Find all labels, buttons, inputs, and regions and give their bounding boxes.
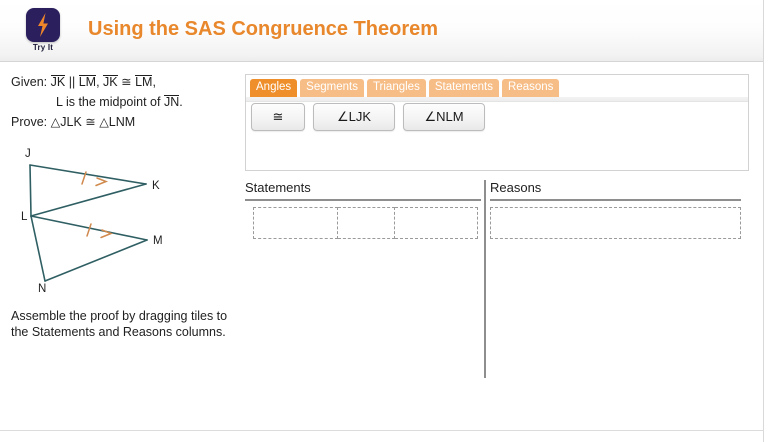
- given-label: Given:: [11, 75, 47, 89]
- prove-label: Prove:: [11, 115, 47, 129]
- two-triangles-figure: J K L M N: [0, 138, 230, 298]
- statement-drop-slot-3[interactable]: [395, 207, 478, 239]
- tab-strip-underline: [246, 97, 748, 102]
- lightning-bolt-icon: [26, 8, 60, 42]
- segment-jk-1: JK: [51, 75, 66, 89]
- segment-jk-2: JK: [103, 75, 118, 89]
- column-divider: [484, 180, 486, 378]
- statements-header-rule: [245, 199, 481, 201]
- given-prove-block: Given: JK || LM, JK ≅ LM, L is the midpo…: [11, 72, 183, 132]
- midpoint-text: L is the midpoint of: [56, 95, 164, 109]
- tab-statements[interactable]: Statements: [429, 79, 499, 97]
- brand-logo-caption: Try It: [25, 43, 61, 52]
- tile-panel: Angles Segments Triangles Statements Rea…: [245, 74, 749, 171]
- vertex-label-l: L: [21, 211, 28, 223]
- vertex-label-m: M: [153, 235, 163, 247]
- vertex-label-n: N: [38, 283, 46, 295]
- reasons-drop-row: [490, 207, 741, 239]
- tile-category-tabs: Angles Segments Triangles Statements Rea…: [250, 79, 559, 97]
- statement-drop-slot-2[interactable]: [338, 207, 395, 239]
- page-right-border: [763, 0, 764, 442]
- page-bottom-border: [0, 430, 764, 431]
- reasons-column-header: Reasons: [490, 180, 541, 195]
- instructions-text: Assemble the proof by dragging tiles to …: [11, 308, 236, 340]
- brand-logo: Try It: [25, 8, 61, 56]
- segment-lm-1: LM: [79, 75, 96, 89]
- segment-lm-2: LM: [135, 75, 152, 89]
- parallel-symbol: ||: [69, 75, 76, 89]
- given-line-1: Given: JK || LM, JK ≅ LM,: [11, 72, 183, 92]
- tab-reasons[interactable]: Reasons: [502, 79, 559, 97]
- page-title: Using the SAS Congruence Theorem: [88, 18, 438, 41]
- given-line-2: L is the midpoint of JN.: [11, 92, 183, 112]
- tile-angle-nlm[interactable]: ∠NLM: [403, 103, 485, 131]
- statements-column-header: Statements: [245, 180, 311, 195]
- page-header: Try It Using the SAS Congruence Theorem: [0, 0, 764, 62]
- proof-table: Statements Reasons: [245, 180, 749, 380]
- draggable-tile-tray: ≅ ∠LJK ∠NLM: [251, 103, 485, 131]
- vertex-label-k: K: [152, 180, 160, 192]
- tab-segments[interactable]: Segments: [300, 79, 364, 97]
- tile-congruent[interactable]: ≅: [251, 103, 305, 131]
- congruent-symbol-1: ≅: [121, 75, 131, 89]
- midpoint-period: .: [179, 95, 182, 109]
- statements-drop-row: [253, 207, 478, 239]
- vertex-label-j: J: [25, 148, 31, 160]
- tab-angles[interactable]: Angles: [250, 79, 297, 97]
- prove-line: Prove: △JLK ≅ △LNM: [11, 112, 183, 132]
- segment-jn: JN: [164, 95, 179, 109]
- statement-drop-slot-1[interactable]: [253, 207, 338, 239]
- tile-angle-ljk[interactable]: ∠LJK: [313, 103, 395, 131]
- prove-statement: △JLK ≅ △LNM: [51, 115, 136, 129]
- reasons-header-rule: [490, 199, 741, 201]
- activity-page: Try It Using the SAS Congruence Theorem …: [0, 0, 769, 442]
- reason-drop-slot-1[interactable]: [490, 207, 741, 239]
- tab-triangles[interactable]: Triangles: [367, 79, 426, 97]
